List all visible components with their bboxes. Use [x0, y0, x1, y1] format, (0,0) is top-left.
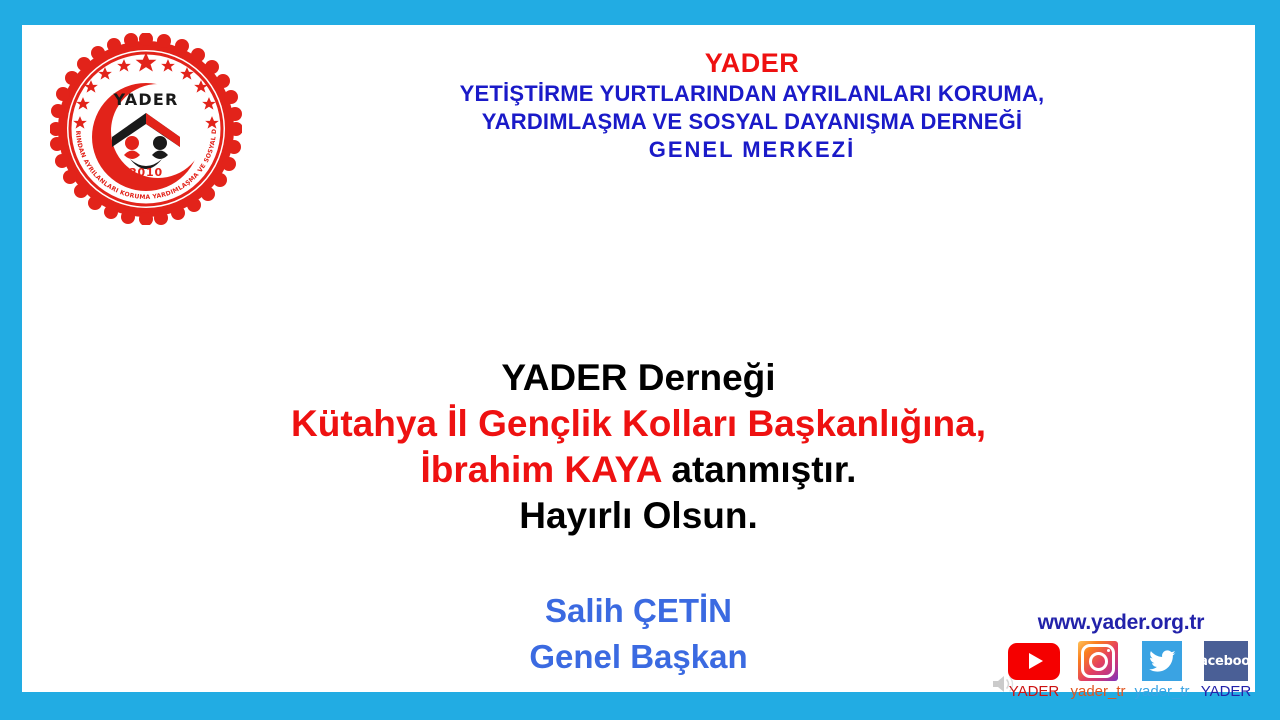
yader-seal-logo: YADER 2010 YETİŞTİRME YURTLARINDAN AYRIL…	[50, 33, 242, 225]
org-branch-label: GENEL MERKEZİ	[262, 136, 1242, 164]
message-line-3: İbrahim KAYA atanmıştır.	[22, 447, 1255, 493]
org-name-line-2: YARDIMLAŞMA VE SOSYAL DAYANIŞMA DERNEĞİ	[262, 108, 1242, 136]
social-links-row: YADER yader_tr	[1005, 641, 1255, 700]
footer-contact-block: www.yader.org.tr YADER yader_tr	[987, 585, 1255, 715]
presentation-slide: YADER 2010 YETİŞTİRME YURTLARINDAN AYRIL…	[0, 0, 1280, 720]
appointment-verb: atanmıştır.	[661, 449, 856, 490]
org-name-line-1: YETİŞTİRME YURTLARINDAN AYRILANLARI KORU…	[262, 80, 1242, 108]
message-line-2: Kütahya İl Gençlik Kolları Başkanlığına,	[22, 401, 1255, 447]
instagram-handle: yader_tr	[1070, 683, 1125, 700]
facebook-icon[interactable]: facebook	[1200, 641, 1252, 681]
website-url[interactable]: www.yader.org.tr	[987, 611, 1255, 635]
instagram-icon[interactable]	[1072, 641, 1124, 681]
announcement-message: YADER Derneği Kütahya İl Gençlik Kolları…	[22, 355, 1255, 539]
org-abbreviation: YADER	[262, 47, 1242, 80]
twitter-handle: yader_tr	[1134, 683, 1189, 700]
twitter-icon[interactable]	[1136, 641, 1188, 681]
slide-content-card: YADER 2010 YETİŞTİRME YURTLARINDAN AYRIL…	[22, 25, 1255, 692]
appointee-name: İbrahim KAYA	[421, 449, 662, 490]
organization-title-block: YADER YETİŞTİRME YURTLARINDAN AYRILANLAR…	[262, 47, 1242, 164]
slide-header: YADER 2010 YETİŞTİRME YURTLARINDAN AYRIL…	[22, 25, 1255, 225]
message-line-4: Hayırlı Olsun.	[22, 493, 1255, 539]
svg-text:2010: 2010	[129, 166, 163, 179]
svg-text:YADER: YADER	[113, 90, 179, 109]
facebook-handle: YADER	[1201, 683, 1252, 700]
message-line-1: YADER Derneği	[22, 355, 1255, 401]
social-link-instagram[interactable]: yader_tr	[1069, 641, 1127, 700]
speaker-icon[interactable]	[991, 673, 1017, 695]
social-link-twitter[interactable]: yader_tr	[1133, 641, 1191, 700]
social-link-facebook[interactable]: facebook YADER	[1197, 641, 1255, 700]
